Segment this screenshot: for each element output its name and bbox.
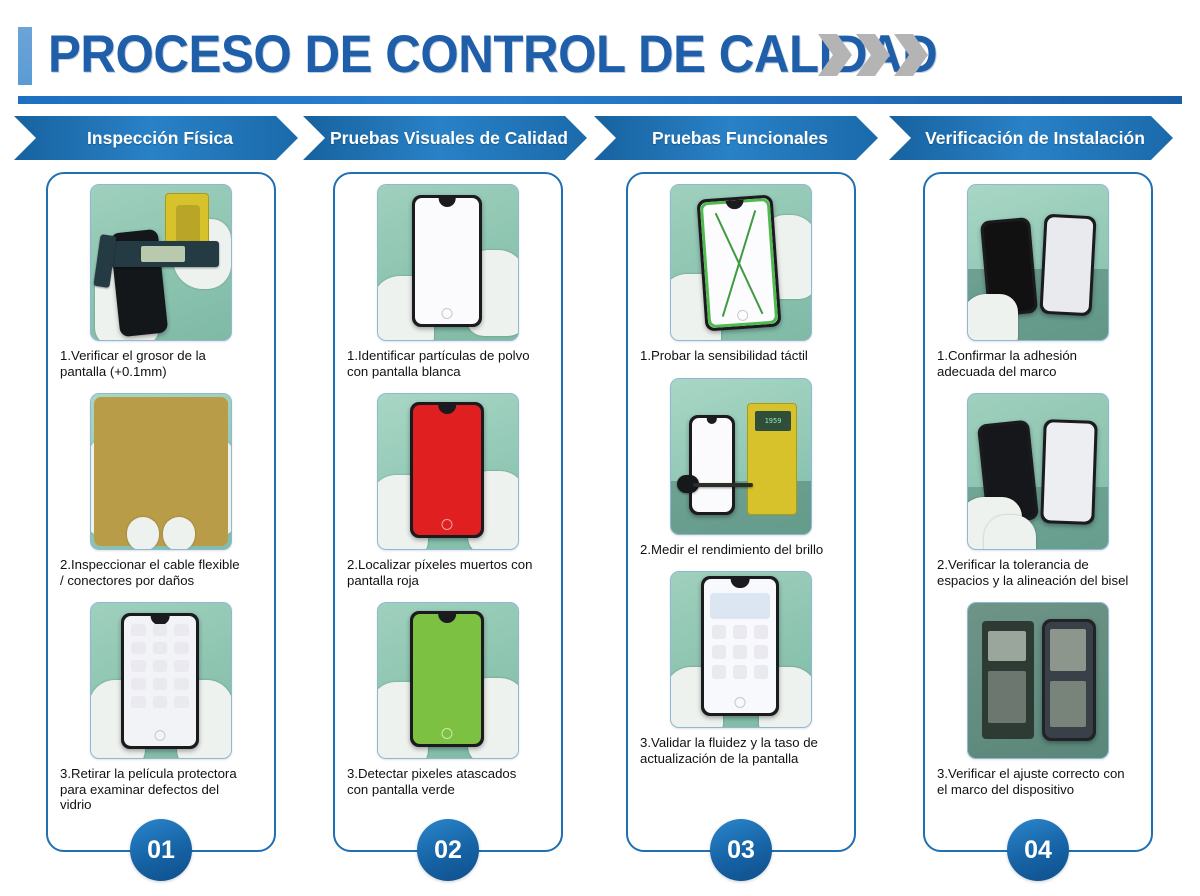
step-caption: 1.Identificar partículas de polvo con pa… xyxy=(343,341,553,379)
step-item: 1.Identificar partículas de polvo con pa… xyxy=(343,184,553,379)
column-banner-label: Pruebas Visuales de Calidad xyxy=(322,128,568,149)
step-photo-bezel-gap-alignment-check xyxy=(967,393,1109,550)
chevron-right-icon xyxy=(856,34,890,76)
column-banner-label: Verificación de Instalación xyxy=(917,128,1145,149)
step-item: 2.Verificar la tolerancia de espacios y … xyxy=(933,393,1143,588)
column-banner-label: Pruebas Funcionales xyxy=(644,128,828,149)
process-column-1: Inspección Física 1.Verificar el grosor … xyxy=(14,116,298,160)
step-number-badge-03: 03 xyxy=(710,819,772,881)
step-item: 1.Probar la sensibilidad táctil xyxy=(636,184,846,364)
step-caption: 2.Verificar la tolerancia de espacios y … xyxy=(933,550,1143,588)
step-caption: 3.Verificar el ajuste correcto con el ma… xyxy=(933,759,1143,797)
step-number-badge-04: 04 xyxy=(1007,819,1069,881)
header-divider xyxy=(18,96,1182,104)
step-item: 1.Confirmar la adhesión adecuada del mar… xyxy=(933,184,1143,379)
column-banner-4[interactable]: Verificación de Instalación xyxy=(889,116,1173,160)
step-caption: 1.Probar la sensibilidad táctil xyxy=(636,341,846,364)
header-divider-highlight xyxy=(18,104,1182,106)
step-item: 3.Validar la fluidez y la taso de actual… xyxy=(636,571,846,766)
step-photo-device-frame-fit-check-open-housing xyxy=(967,602,1109,759)
step-caption: 3.Detectar pixeles atascados con pantall… xyxy=(343,759,553,797)
process-column-4: Verificación de Instalación 1.Confirmar … xyxy=(889,116,1173,160)
step-caption: 2.Localizar píxeles muertos con pantalla… xyxy=(343,550,553,588)
step-photo-brightness-meter-measurement: 1959 xyxy=(670,378,812,535)
process-column-2: Pruebas Visuales de Calidad 1.Identifica… xyxy=(303,116,587,160)
column-card-3: 1.Probar la sensibilidad táctil 1959 xyxy=(626,172,856,852)
page-title: PROCESO DE CONTROL DE CALIDAD xyxy=(48,22,937,88)
column-banner-1[interactable]: Inspección Física xyxy=(14,116,298,160)
process-columns: Inspección Física 1.Verificar el grosor … xyxy=(0,116,1200,896)
step-photo-hands-removing-protective-film xyxy=(90,602,232,759)
step-photo-refresh-rate-scroll-test xyxy=(670,571,812,728)
step-caption: 2.Medir el rendimiento del brillo xyxy=(636,535,846,558)
step-item: 1.Verificar el grosor de la pantalla (+0… xyxy=(56,184,266,379)
column-card-2: 1.Identificar partículas de polvo con pa… xyxy=(333,172,563,852)
page-header: PROCESO DE CONTROL DE CALIDAD xyxy=(0,0,1200,104)
title-accent-bar xyxy=(18,27,32,85)
step-photo-caliper-measuring-screen-thickness xyxy=(90,184,232,341)
process-column-3: Pruebas Funcionales xyxy=(594,116,878,160)
step-item: 3.Detectar pixeles atascados con pantall… xyxy=(343,602,553,797)
column-card-1: 1.Verificar el grosor de la pantalla (+0… xyxy=(46,172,276,852)
column-banner-label: Inspección Física xyxy=(79,128,233,149)
chevron-right-icon xyxy=(818,34,852,76)
step-photo-phone-white-screen-dust-check xyxy=(377,184,519,341)
column-card-4: 1.Confirmar la adhesión adecuada del mar… xyxy=(923,172,1153,852)
step-caption: 1.Verificar el grosor de la pantalla (+0… xyxy=(56,341,266,379)
column-banner-3[interactable]: Pruebas Funcionales xyxy=(594,116,878,160)
step-caption: 2.Inspeccionar el cable flexible / conec… xyxy=(56,550,266,588)
step-caption: 3.Validar la fluidez y la taso de actual… xyxy=(636,728,846,766)
step-item: 2.Localizar píxeles muertos con pantalla… xyxy=(343,393,553,588)
step-number-badge-01: 01 xyxy=(130,819,192,881)
step-photo-frame-adhesion-two-devices xyxy=(967,184,1109,341)
step-photo-gloved-hands-holding-flex-cable-panel xyxy=(90,393,232,550)
step-caption: 3.Retirar la película protectora para ex… xyxy=(56,759,266,813)
step-item: 1959 2.Medir el rendimiento del brillo xyxy=(636,378,846,558)
step-photo-phone-green-screen-stuck-pixel-check xyxy=(377,602,519,759)
step-item: 2.Inspeccionar el cable flexible / conec… xyxy=(56,393,266,588)
step-photo-phone-red-screen-dead-pixel-check xyxy=(377,393,519,550)
step-item: 3.Verificar el ajuste correcto con el ma… xyxy=(933,602,1143,797)
step-item: 3.Retirar la película protectora para ex… xyxy=(56,602,266,813)
chevron-right-icon xyxy=(894,34,928,76)
step-number-badge-02: 02 xyxy=(417,819,479,881)
header-chevron-group xyxy=(818,34,928,76)
column-banner-2[interactable]: Pruebas Visuales de Calidad xyxy=(303,116,587,160)
step-photo-touch-sensitivity-test-green-x-pattern xyxy=(670,184,812,341)
step-caption: 1.Confirmar la adhesión adecuada del mar… xyxy=(933,341,1143,379)
